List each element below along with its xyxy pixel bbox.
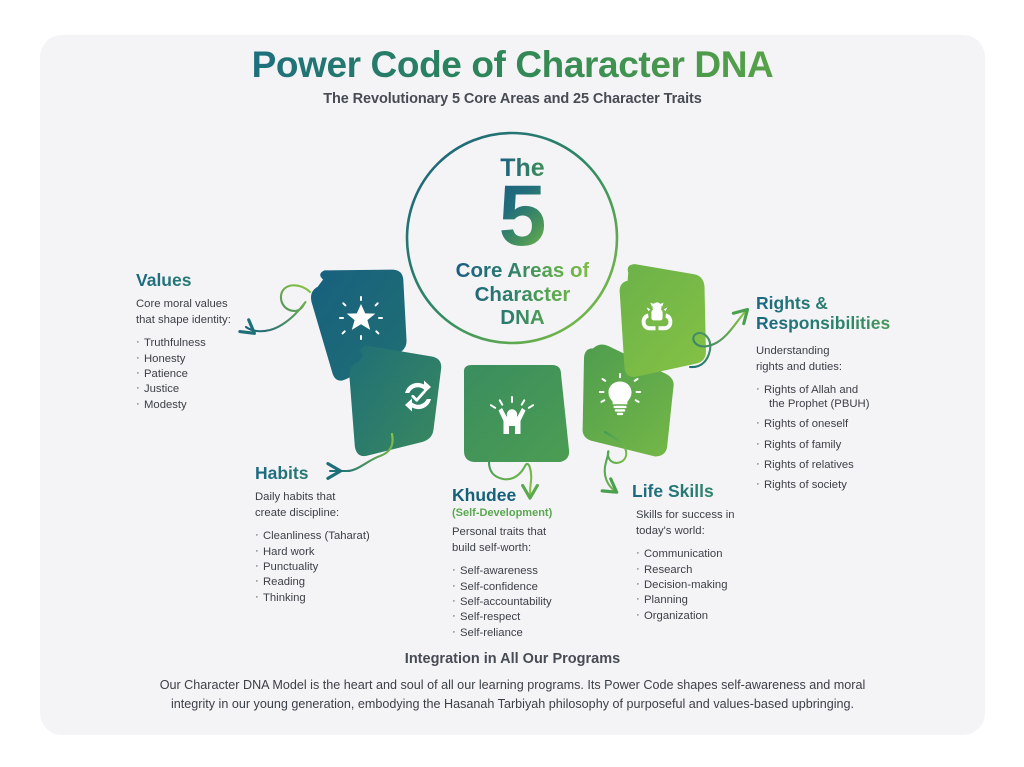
list-item: Modesty	[136, 398, 311, 412]
rights-desc-line-2: rights and duties:	[756, 361, 842, 373]
list-item: Justice	[136, 382, 311, 396]
khudee-heading: Khudee	[452, 485, 637, 505]
habits-desc-line-1: Daily habits that	[255, 491, 335, 503]
habits-trait-list: Cleanliness (Taharat) Hard work Punctual…	[255, 529, 440, 605]
life-skills-description: Skills for success in today's world:	[632, 507, 817, 539]
list-item: Self-awareness	[452, 564, 637, 578]
habits-block: Habits Daily habits that create discipli…	[255, 463, 440, 606]
list-item: Punctuality	[255, 560, 440, 574]
habits-description: Daily habits that create discipline:	[255, 489, 440, 521]
rights-desc-line-1: Understanding	[756, 345, 829, 357]
list-item: Organization	[636, 609, 817, 623]
center-line-character: Character	[456, 283, 590, 306]
life-skills-desc-line-1: Skills for success in	[636, 509, 735, 521]
rights-heading-line-2: Responsibilities	[756, 313, 890, 333]
list-item: Patience	[136, 367, 311, 381]
page-subtitle: The Revolutionary 5 Core Areas and 25 Ch…	[40, 91, 985, 107]
values-heading: Values	[136, 270, 311, 290]
khudee-block: Khudee (Self-Development) Personal trait…	[452, 485, 637, 641]
list-item: Honesty	[136, 352, 311, 366]
life-skills-desc-line-2: today's world:	[636, 525, 705, 537]
khudee-trait-list: Self-awareness Self-confidence Self-acco…	[452, 564, 637, 640]
list-item: Rights of relatives	[756, 458, 961, 472]
list-item: Rights of oneself	[756, 417, 961, 431]
rights-heading-line-1: Rights &	[756, 293, 828, 313]
values-desc-line-2: that shape identity:	[136, 314, 231, 326]
list-item: Research	[636, 563, 817, 577]
page-title: Power Code of Character DNA	[40, 44, 985, 86]
habits-heading: Habits	[255, 463, 440, 483]
list-item: Decision-making	[636, 578, 817, 592]
list-item: Communication	[636, 547, 817, 561]
values-trait-list: Truthfulness Honesty Patience Justice Mo…	[136, 336, 311, 412]
life-skills-block: Life Skills Skills for success in today'…	[632, 481, 817, 624]
list-item-continuation: the Prophet (PBUH)	[756, 397, 961, 411]
list-item: Hard work	[255, 545, 440, 559]
list-item: Self-reliance	[452, 626, 637, 640]
list-item: Cleanliness (Taharat)	[255, 529, 440, 543]
center-badge: The 5 Core Areas of Character DNA	[415, 135, 630, 350]
list-item: Truthfulness	[136, 336, 311, 350]
list-item: Rights of Allah and	[756, 383, 961, 397]
footer-title: Integration in All Our Programs	[40, 651, 985, 667]
center-number: 5	[499, 177, 547, 256]
habits-desc-line-2: create discipline:	[255, 507, 339, 519]
infographic-canvas: Power Code of Character DNA The Revoluti…	[0, 0, 1024, 767]
khudee-desc-line-2: build self-worth:	[452, 542, 531, 554]
list-item: Thinking	[255, 591, 440, 605]
life-skills-trait-list: Communication Research Decision-making P…	[632, 547, 817, 623]
khudee-description: Personal traits that build self-worth:	[452, 524, 637, 556]
center-line-core-areas: Core Areas of	[456, 259, 590, 282]
footer-body: Our Character DNA Model is the heart and…	[145, 676, 880, 714]
list-item: Rights of family	[756, 438, 961, 452]
khudee-desc-line-1: Personal traits that	[452, 526, 546, 538]
rights-trait-list: Rights of Allah and the Prophet (PBUH) R…	[756, 383, 961, 493]
values-desc-line-1: Core moral values	[136, 298, 228, 310]
list-item: Self-accountability	[452, 595, 637, 609]
values-block: Values Core moral values that shape iden…	[136, 270, 311, 413]
list-item: Rights of society	[756, 478, 961, 492]
list-item: Reading	[255, 575, 440, 589]
values-description: Core moral values that shape identity:	[136, 296, 311, 328]
rights-block: Rights & Responsibilities Understanding …	[756, 293, 961, 499]
list-item: Planning	[636, 593, 817, 607]
list-item: Self-confidence	[452, 580, 637, 594]
rights-heading: Rights & Responsibilities	[756, 293, 961, 334]
khudee-sublabel: (Self-Development)	[452, 507, 637, 519]
center-line-dna: DNA	[456, 306, 590, 329]
rights-description: Understanding rights and duties:	[756, 343, 961, 375]
list-item: Self-respect	[452, 610, 637, 624]
